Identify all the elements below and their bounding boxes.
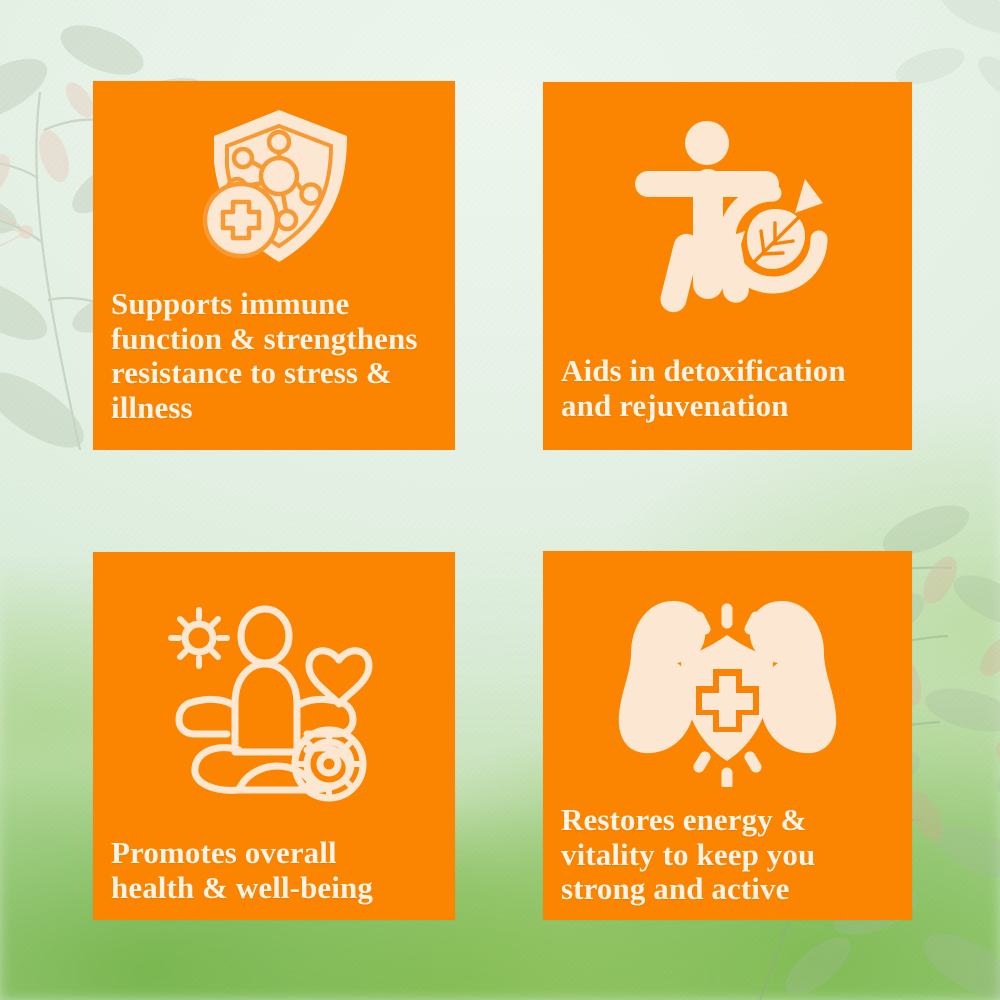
person-leaf-renewal-icon bbox=[623, 113, 833, 323]
benefits-graphic: Supports immune function & strengthens r… bbox=[0, 0, 1000, 1000]
benefit-text: Aids in detoxification and rejuvenation bbox=[543, 354, 912, 423]
icon-container bbox=[93, 552, 455, 832]
flexing-arms-shield-cross-icon bbox=[615, 587, 840, 787]
benefit-text: Promotes overall health & well-being bbox=[93, 836, 455, 905]
shield-virus-plus-icon bbox=[179, 96, 369, 286]
icon-container bbox=[543, 82, 912, 348]
benefit-card-wellbeing[interactable]: Promotes overall health & well-being bbox=[93, 552, 455, 920]
icon-container bbox=[543, 551, 912, 801]
benefit-card-detox[interactable]: Aids in detoxification and rejuvenation bbox=[543, 82, 912, 450]
benefit-card-immune[interactable]: Supports immune function & strengthens r… bbox=[93, 81, 455, 450]
icon-container bbox=[93, 81, 455, 291]
benefit-card-energy[interactable]: Restores energy & vitality to keep you s… bbox=[543, 551, 912, 920]
meditating-person-sun-heart-gear-icon bbox=[167, 594, 382, 809]
benefit-text: Restores energy & vitality to keep you s… bbox=[543, 803, 912, 907]
benefit-text: Supports immune function & strengthens r… bbox=[93, 287, 455, 426]
